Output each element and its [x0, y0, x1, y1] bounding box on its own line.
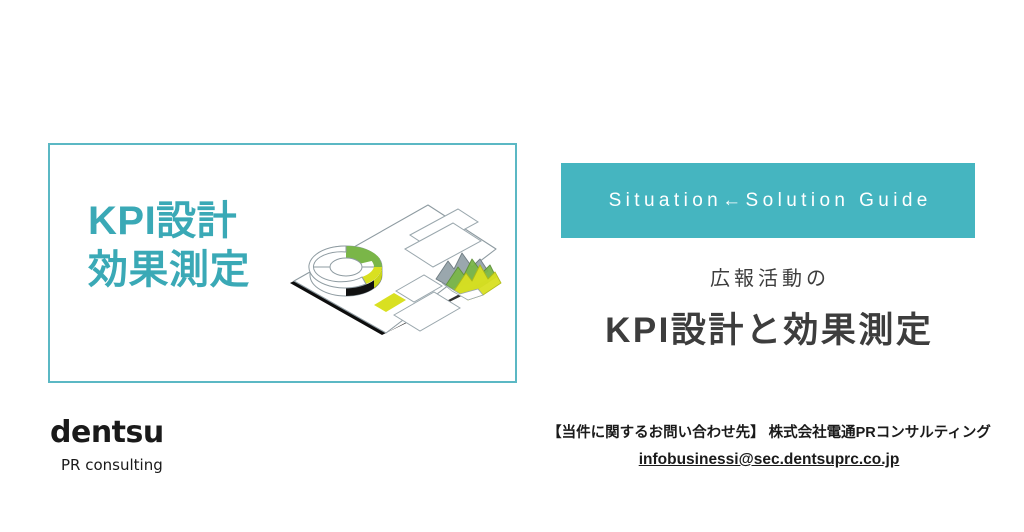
- slide-root: KPI設計 効果測定: [0, 0, 1024, 532]
- contact-line: 【当件に関するお問い合わせ先】 株式会社電通PRコンサルティング: [534, 423, 1004, 445]
- logo-wordmark: dentsu: [50, 418, 290, 448]
- contact-email-wrapper: infobusinessi@sec.dentsuprc.co.jp: [534, 451, 1004, 469]
- guide-banner-label: Situation←Solution Guide: [604, 190, 932, 212]
- dentsu-logo: dentsu PR consulting: [50, 418, 290, 473]
- visual-panel: KPI設計 効果測定: [48, 143, 517, 383]
- logo-tagline: PR consulting: [61, 458, 290, 473]
- contact-email-link[interactable]: infobusinessi@sec.dentsuprc.co.jp: [639, 451, 900, 468]
- page-title: KPI設計と効果測定: [561, 302, 975, 353]
- guide-banner: Situation←Solution Guide: [561, 163, 975, 238]
- heading-eyebrow: 広報活動の: [561, 262, 975, 291]
- isometric-dashboard-illustration: [282, 187, 507, 347]
